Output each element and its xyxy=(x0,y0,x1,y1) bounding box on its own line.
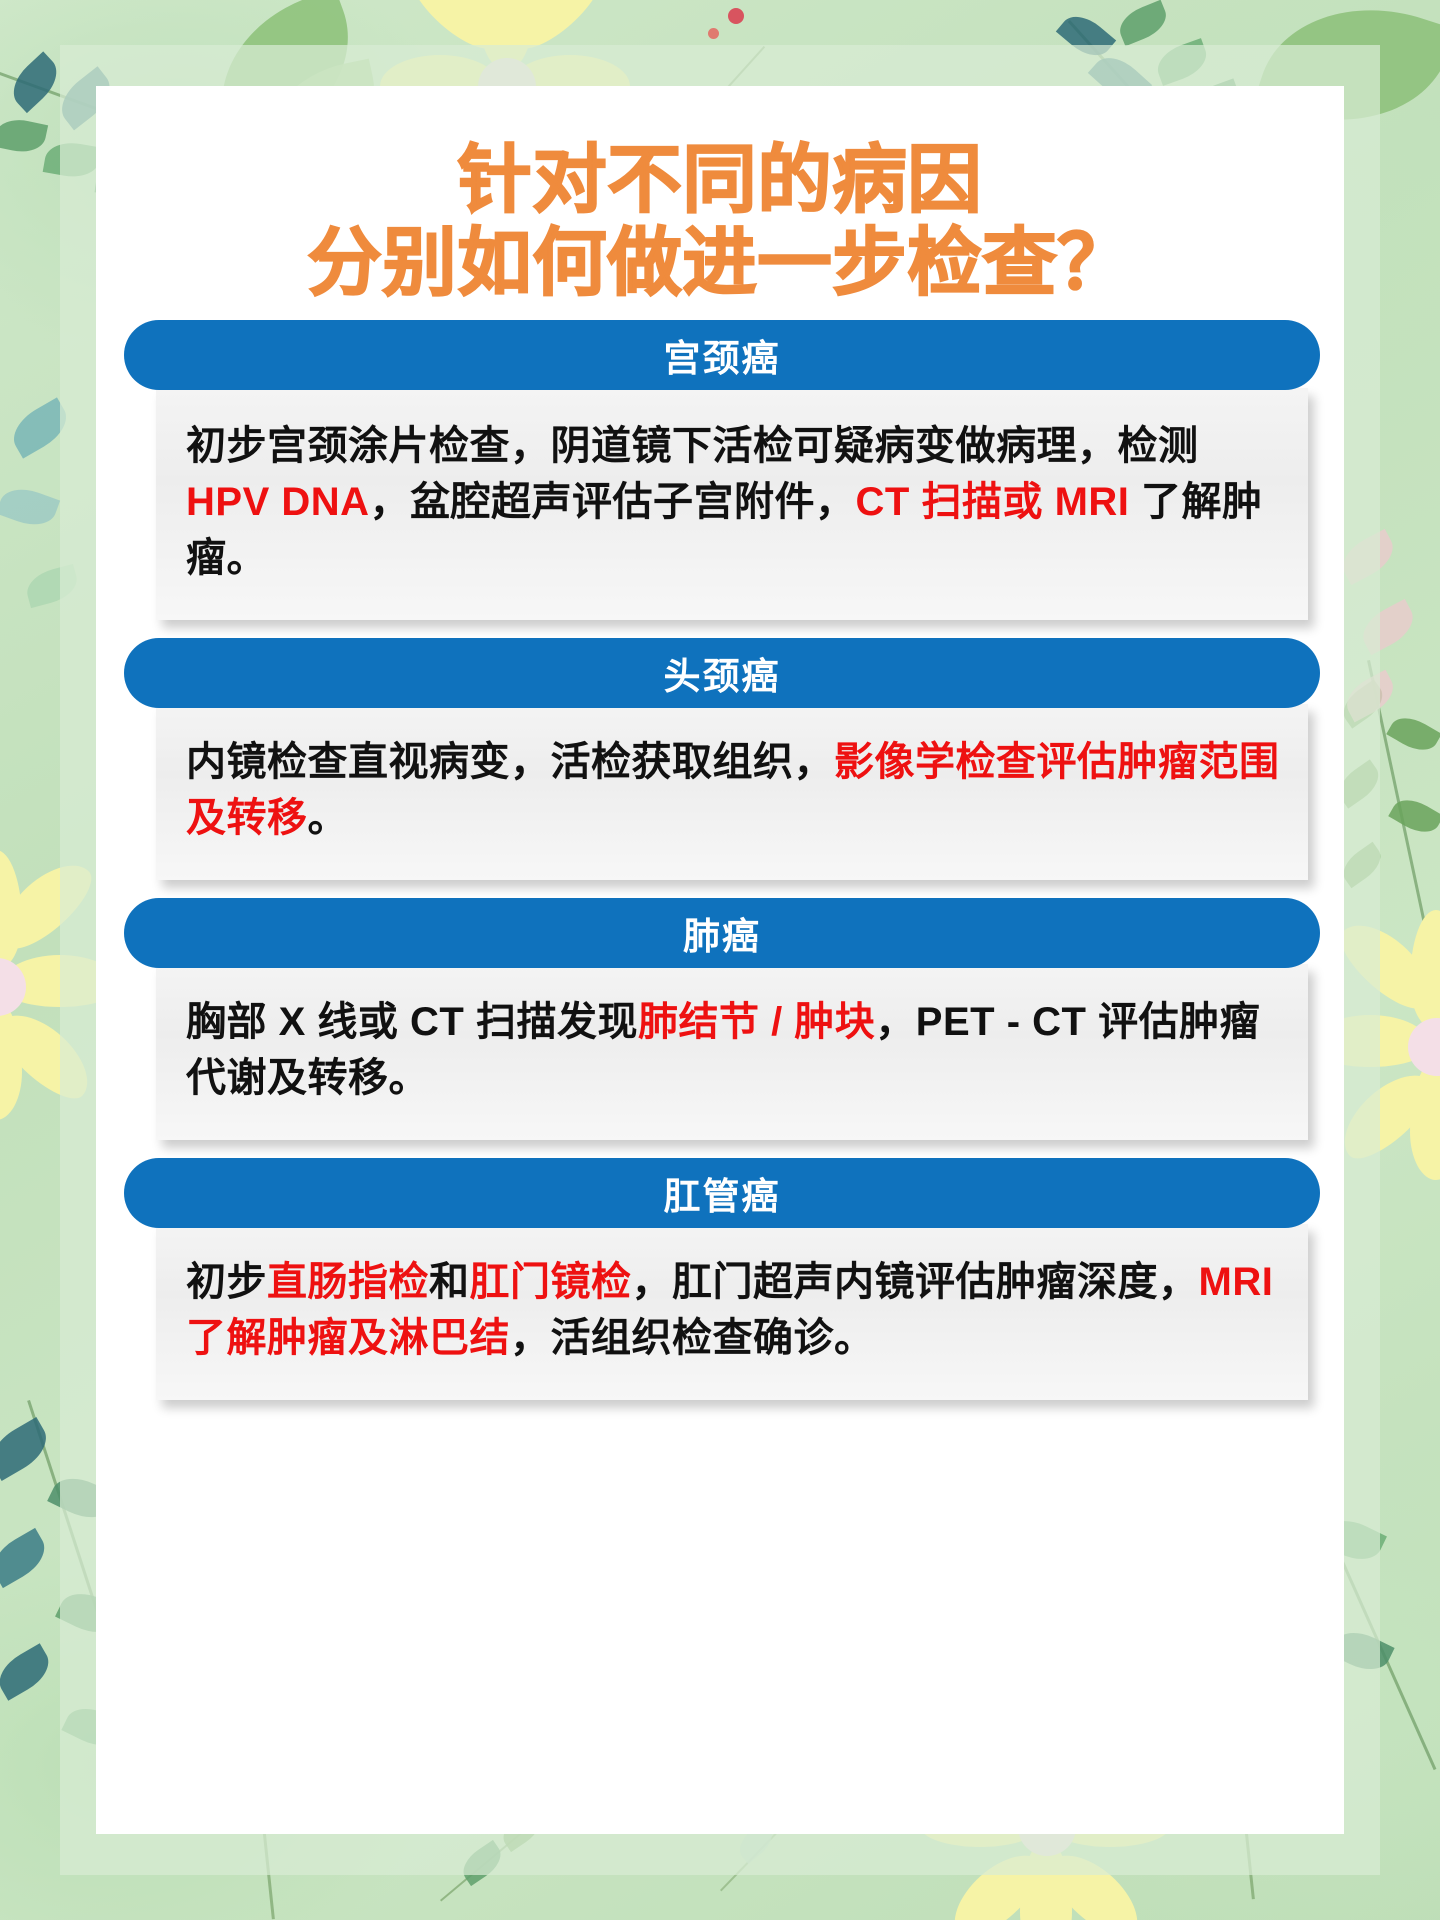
page-title-line2: 分别如何做进一步检查？ xyxy=(96,225,1344,302)
poster-content: 针对不同的病因 分别如何做进一步检查？ 宫颈癌 初步宫颈涂片检查，阴道镜下活检可… xyxy=(96,86,1344,1834)
section-anal-cancer: 肛管癌 初步直肠指检和肛门镜检，肛门超声内镜评估肿瘤深度，MRI 了解肿瘤及淋巴… xyxy=(96,1158,1344,1400)
section-header-label: 头颈癌 xyxy=(664,646,781,700)
highlighted-text: 肺结节 / 肿块 xyxy=(638,1000,875,1044)
section-body-text: 初步宫颈涂片检查，阴道镜下活检可疑病变做病理，检测 HPV DNA，盆腔超声评估… xyxy=(186,418,1282,586)
body-text: 胸部 X 线或 CT 扫描发现 xyxy=(186,1000,638,1044)
section-panel-anal-cancer: 初步直肠指检和肛门镜检，肛门超声内镜评估肿瘤深度，MRI 了解肿瘤及淋巴结，活组… xyxy=(156,1224,1308,1400)
section-header-label: 宫颈癌 xyxy=(664,328,781,382)
body-text: 。 xyxy=(308,796,349,840)
section-head-neck-cancer: 头颈癌 内镜检查直视病变，活检获取组织，影像学检查评估肿瘤范围及转移。 xyxy=(96,638,1344,880)
body-text: ，肛门超声内镜评估肿瘤深度， xyxy=(632,1260,1199,1304)
section-body-text: 初步直肠指检和肛门镜检，肛门超声内镜评估肿瘤深度，MRI 了解肿瘤及淋巴结，活组… xyxy=(186,1254,1282,1366)
body-text: 初步 xyxy=(186,1260,267,1304)
page-title-line1: 针对不同的病因 xyxy=(96,142,1344,219)
highlighted-text: CT 扫描或 MRI xyxy=(856,480,1130,524)
section-lung-cancer: 肺癌 胸部 X 线或 CT 扫描发现肺结节 / 肿块，PET - CT 评估肿瘤… xyxy=(96,898,1344,1140)
section-panel-head-neck-cancer: 内镜检查直视病变，活检获取组织，影像学检查评估肿瘤范围及转移。 xyxy=(156,704,1308,880)
highlighted-text: 直肠指检 xyxy=(267,1260,429,1304)
body-text: 内镜检查直视病变，活检获取组织， xyxy=(186,740,834,784)
section-header-lung-cancer[interactable]: 肺癌 xyxy=(124,898,1320,968)
body-text: ，盆腔超声评估子宫附件， xyxy=(370,480,856,524)
section-header-label: 肺癌 xyxy=(683,906,761,960)
body-text: 和 xyxy=(429,1260,470,1304)
section-header-label: 肛管癌 xyxy=(664,1166,781,1220)
body-text: ，活组织检查确诊。 xyxy=(510,1316,875,1360)
section-panel-cervical-cancer: 初步宫颈涂片检查，阴道镜下活检可疑病变做病理，检测 HPV DNA，盆腔超声评估… xyxy=(156,388,1308,620)
section-header-cervical-cancer[interactable]: 宫颈癌 xyxy=(124,320,1320,390)
page-title: 针对不同的病因 分别如何做进一步检查？ xyxy=(96,86,1344,302)
section-body-text: 内镜检查直视病变，活检获取组织，影像学检查评估肿瘤范围及转移。 xyxy=(186,734,1282,846)
section-header-head-neck-cancer[interactable]: 头颈癌 xyxy=(124,638,1320,708)
section-cervical-cancer: 宫颈癌 初步宫颈涂片检查，阴道镜下活检可疑病变做病理，检测 HPV DNA，盆腔… xyxy=(96,320,1344,620)
section-panel-lung-cancer: 胸部 X 线或 CT 扫描发现肺结节 / 肿块，PET - CT 评估肿瘤代谢及… xyxy=(156,964,1308,1140)
highlighted-text: 肛门镜检 xyxy=(470,1260,632,1304)
highlighted-text: HPV DNA xyxy=(186,480,370,524)
body-text: 初步宫颈涂片检查，阴道镜下活检可疑病变做病理，检测 xyxy=(186,424,1199,468)
section-body-text: 胸部 X 线或 CT 扫描发现肺结节 / 肿块，PET - CT 评估肿瘤代谢及… xyxy=(186,994,1282,1106)
section-header-anal-cancer[interactable]: 肛管癌 xyxy=(124,1158,1320,1228)
